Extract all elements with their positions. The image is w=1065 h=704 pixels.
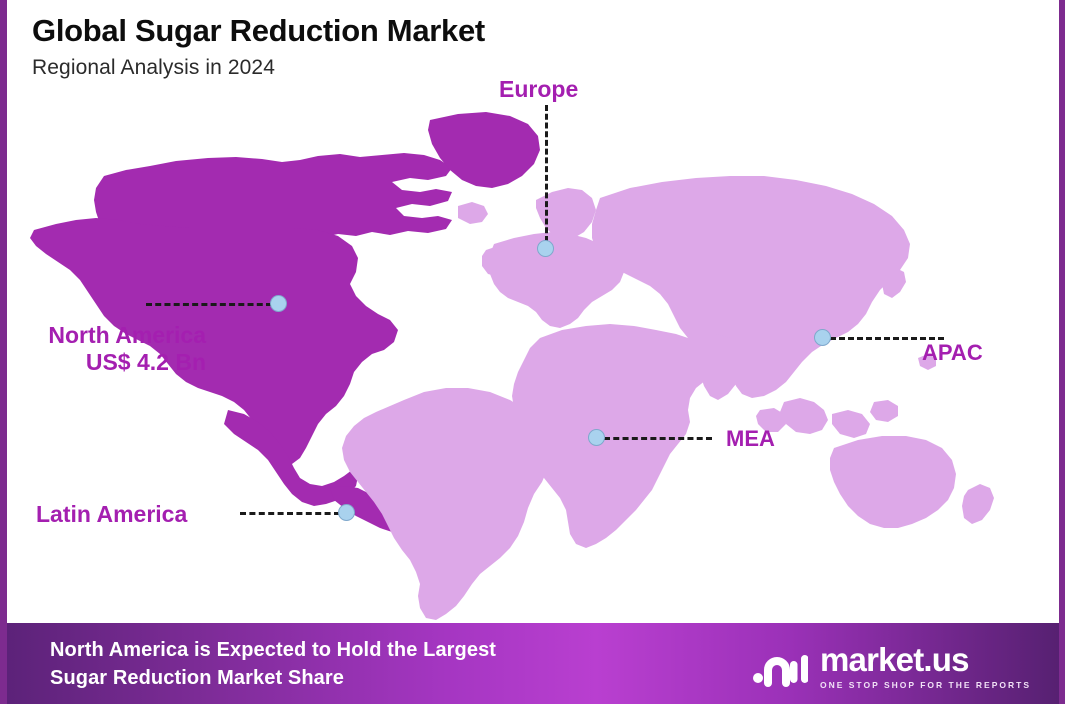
region-name-apac: APAC: [922, 340, 983, 366]
logo-name: market.us: [820, 643, 1031, 676]
logo-tagline: ONE STOP SHOP FOR THE REPORTS: [820, 680, 1031, 690]
left-edge-strip: [0, 0, 7, 704]
connector-north-america: [146, 303, 272, 306]
footer-caption-line1: North America is Expected to Hold the La…: [50, 637, 496, 665]
brand-logo[interactable]: market.us ONE STOP SHOP FOR THE REPORTS: [752, 643, 1031, 690]
page-title: Global Sugar Reduction Market: [32, 14, 485, 48]
page-subtitle: Regional Analysis in 2024: [32, 56, 485, 80]
region-name-mea: MEA: [726, 426, 775, 452]
region-name-latin-america: Latin America: [36, 501, 187, 528]
marker-north-america[interactable]: [270, 295, 287, 312]
logo-text: market.us ONE STOP SHOP FOR THE REPORTS: [820, 643, 1031, 690]
map-region-oceania[interactable]: [830, 436, 994, 528]
region-label-apac[interactable]: APAC: [922, 340, 983, 366]
footer-banner: North America is Expected to Hold the La…: [0, 623, 1065, 704]
region-label-mea[interactable]: MEA: [726, 426, 775, 452]
region-name-north-america: North America: [10, 322, 206, 349]
region-label-latin-america[interactable]: Latin America: [36, 501, 187, 528]
footer-caption-line2: Sugar Reduction Market Share: [50, 665, 496, 693]
region-label-north-america[interactable]: North America US$ 4.2 Bn: [10, 322, 206, 376]
region-name-europe: Europe: [499, 76, 578, 103]
region-value-north-america: US$ 4.2 Bn: [10, 349, 206, 376]
marker-apac[interactable]: [814, 329, 831, 346]
marker-latin-america[interactable]: [338, 504, 355, 521]
map-region-africa[interactable]: [512, 324, 716, 548]
region-label-europe[interactable]: Europe: [499, 76, 578, 103]
right-edge-strip: [1059, 0, 1065, 704]
infographic-root: Global Sugar Reduction Market Regional A…: [0, 0, 1065, 704]
marker-europe[interactable]: [537, 240, 554, 257]
connector-europe: [545, 105, 548, 242]
connector-mea: [604, 437, 712, 440]
connector-latin-america: [240, 512, 340, 515]
footer-caption: North America is Expected to Hold the La…: [50, 637, 496, 692]
header: Global Sugar Reduction Market Regional A…: [32, 14, 485, 80]
marker-mea[interactable]: [588, 429, 605, 446]
bars-logo-icon: [752, 647, 808, 687]
